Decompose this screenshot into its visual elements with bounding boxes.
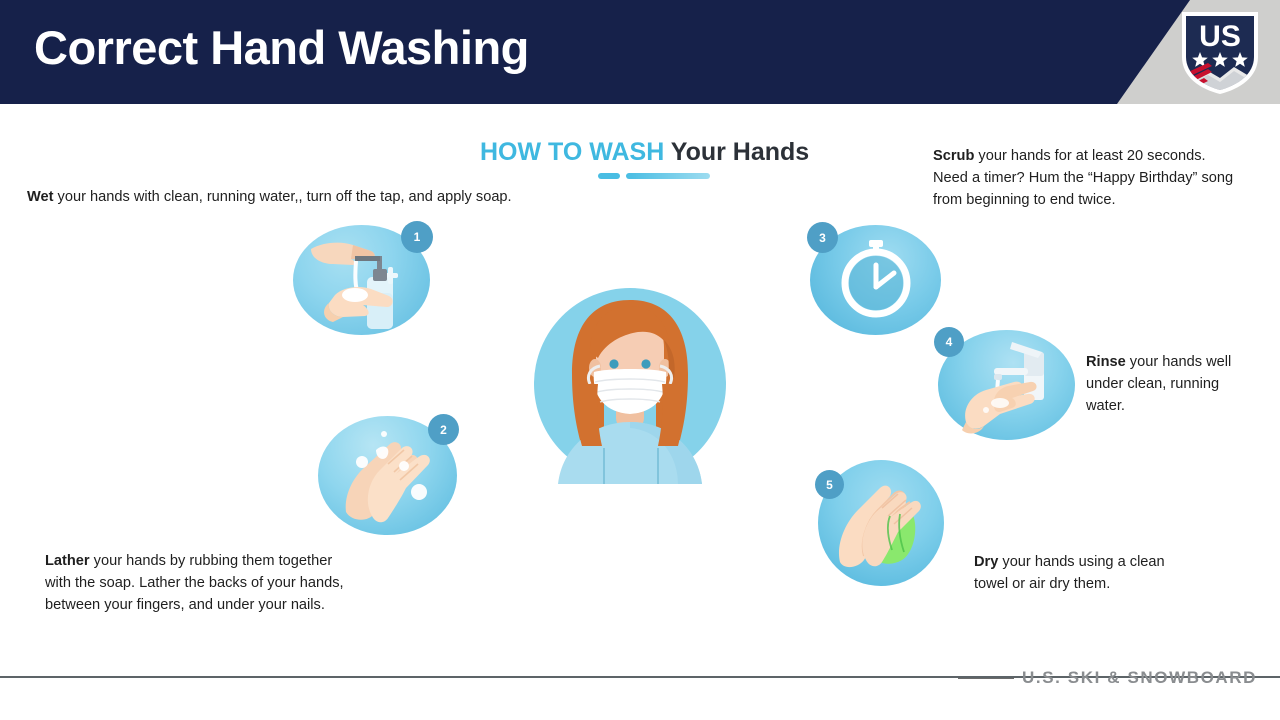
step-3-illustration: 3 (810, 225, 941, 335)
title-underline-bar (626, 173, 710, 179)
header-bar: Correct Hand Washing US (0, 0, 1280, 104)
step-3-body: your hands for at least 20 seconds. Need… (933, 148, 1233, 208)
section-title: HOW TO WASH Your Hands (480, 138, 900, 167)
step-2-illustration: 2 (318, 416, 457, 535)
footer-accent-line (958, 678, 1014, 679)
step-4-illustration: 4 (938, 330, 1075, 440)
step-5-illustration: 5 (818, 460, 944, 586)
woman-wearing-face-mask-illustration (528, 288, 732, 488)
step-2-body: your hands by rubbing them together with… (45, 553, 344, 613)
step-5-badge: 5 (815, 470, 844, 499)
us-ski-snowboard-shield-logo: US (1178, 9, 1262, 97)
step-2-badge: 2 (428, 414, 459, 445)
page-title: Correct Hand Washing (34, 20, 529, 75)
step-1-keyword: Wet (27, 189, 54, 205)
step-1-badge: 1 (401, 221, 433, 253)
slide-canvas: Correct Hand Washing US (0, 0, 1280, 720)
step-1-text: Wet your hands with clean, running water… (27, 186, 587, 208)
step-4-text: Rinse your hands well under clean, runni… (1086, 351, 1256, 417)
title-underline-dash (598, 173, 620, 179)
step-4-badge: 4 (934, 327, 964, 357)
step-1-illustration: 1 (293, 225, 430, 335)
step-3-keyword: Scrub (933, 148, 974, 164)
section-title-rest: Your Hands (664, 138, 809, 166)
step-2-keyword: Lather (45, 553, 90, 569)
step-5-body: your hands using a clean towel or air dr… (974, 554, 1165, 592)
step-1-body: your hands with clean, running water,, t… (54, 189, 512, 205)
svg-text:US: US (1199, 20, 1241, 53)
step-3-text: Scrub your hands for at least 20 seconds… (933, 145, 1239, 211)
section-title-highlight: HOW TO WASH (480, 138, 664, 166)
footer-brand: U.S. SKI & SNOWBOARD (1022, 668, 1257, 688)
step-5-keyword: Dry (974, 554, 998, 570)
step-2-text: Lather your hands by rubbing them togeth… (45, 550, 345, 616)
step-5-text: Dry your hands using a clean towel or ai… (974, 551, 1189, 595)
step-3-badge: 3 (807, 222, 838, 253)
step-4-keyword: Rinse (1086, 354, 1126, 370)
